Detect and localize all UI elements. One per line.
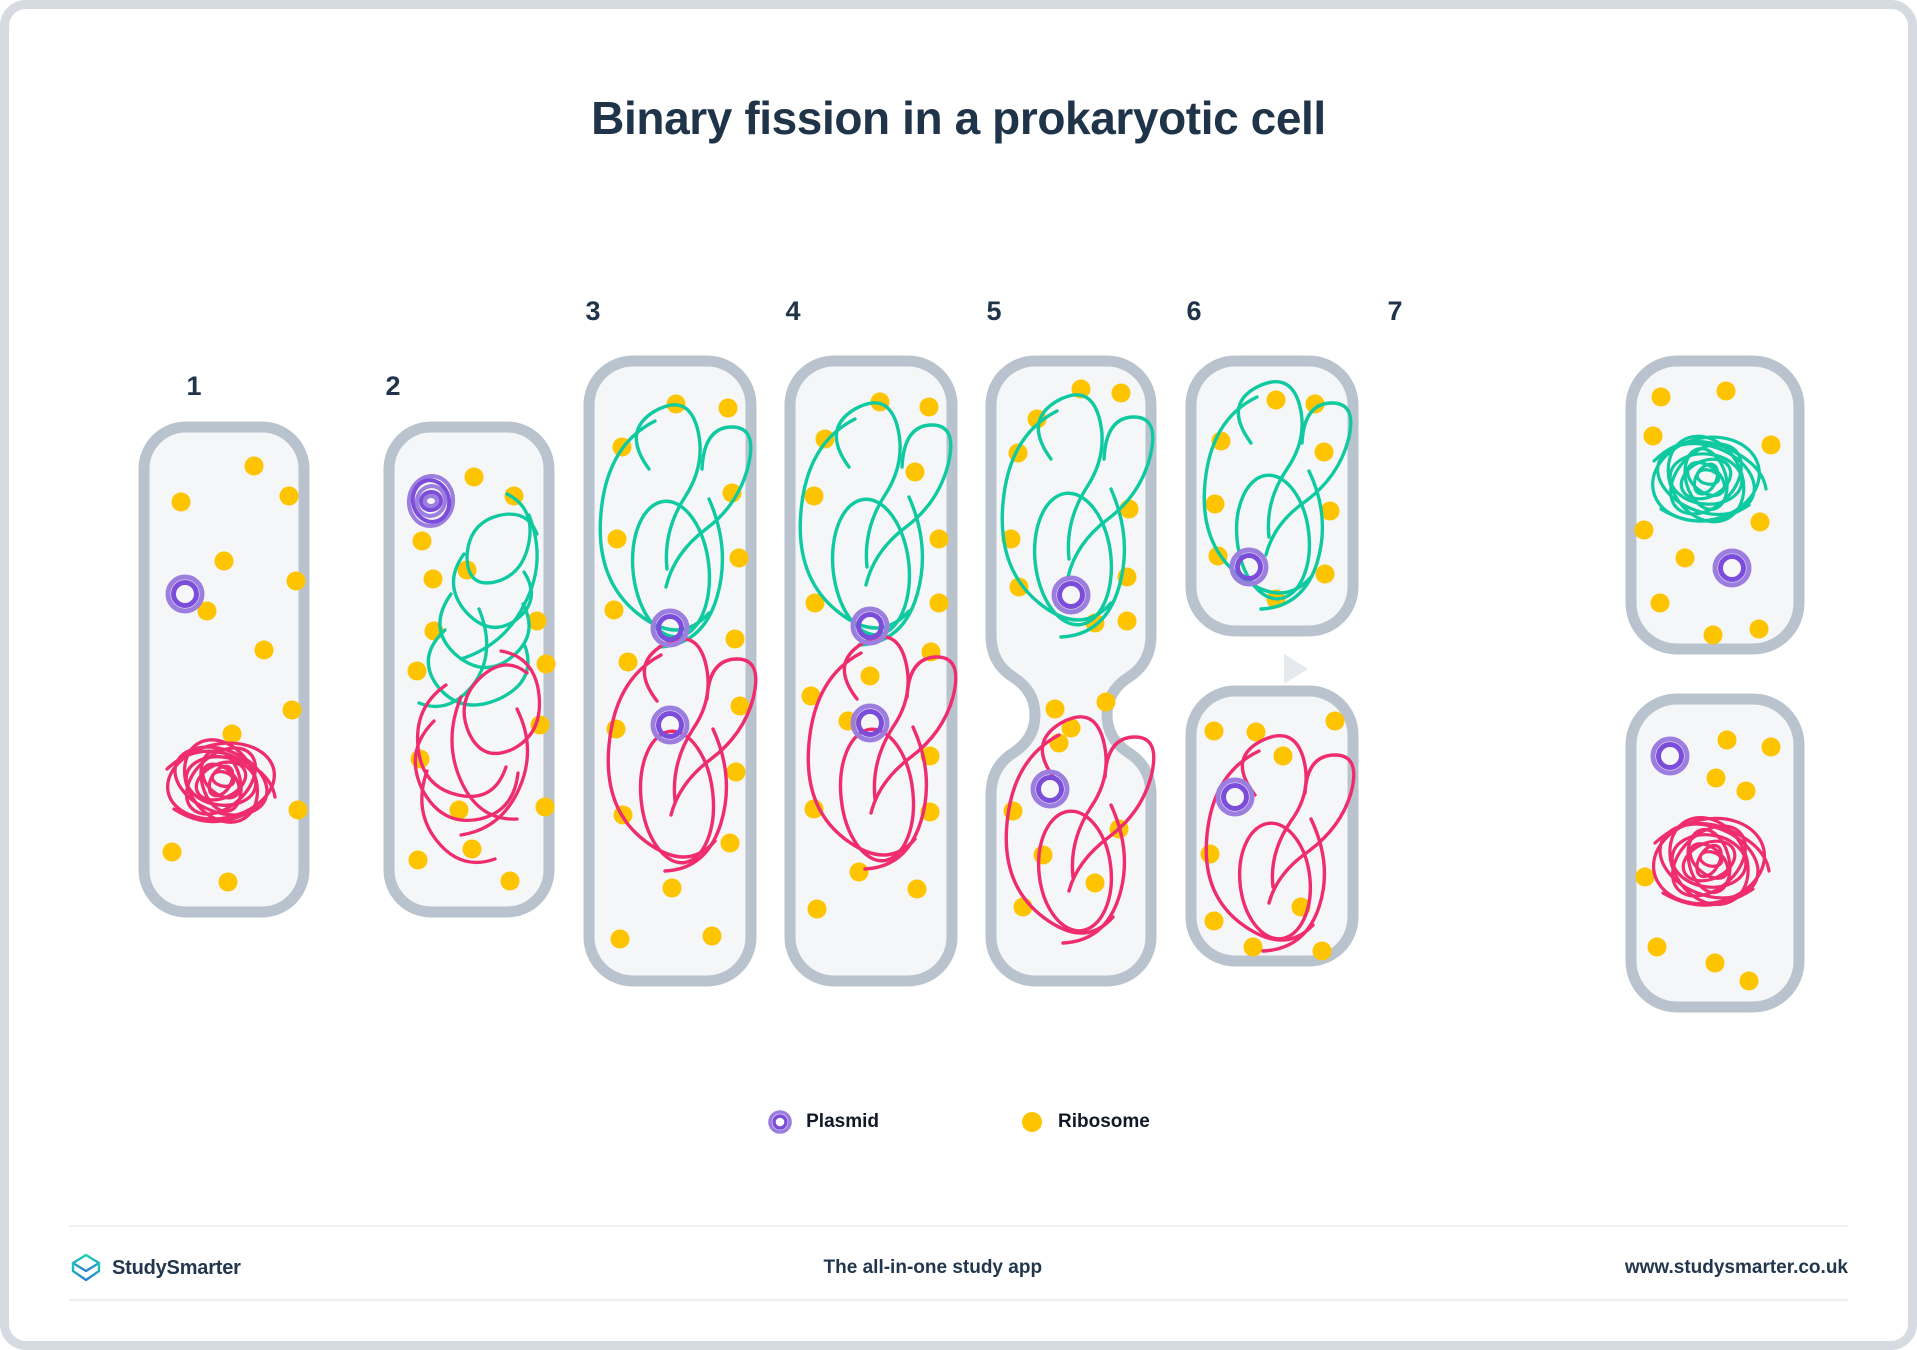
legend: Plasmid Ribosome — [9, 1109, 1908, 1135]
cell-stage-6 — [1191, 361, 1354, 961]
cell-stage-7 — [1631, 361, 1799, 1007]
arrow-6 — [1284, 654, 1308, 684]
step-number-5: 5 — [964, 296, 1024, 327]
cell-stage-2 — [389, 427, 556, 912]
studysmarter-cube-logo — [69, 1251, 103, 1285]
cell-stage-4 — [790, 361, 956, 981]
cell-wall — [144, 427, 304, 912]
legend-item-plasmid: Plasmid — [767, 1109, 879, 1135]
step-number-7: 7 — [1365, 296, 1425, 327]
step-number-6: 6 — [1164, 296, 1224, 327]
step-number-2: 2 — [363, 371, 423, 402]
step-number-3: 3 — [563, 296, 623, 327]
footer-tagline: The all-in-one study app — [824, 1257, 1043, 1279]
binary-fission-illustration — [9, 9, 1917, 1350]
footer-divider-bottom — [69, 1299, 1848, 1301]
cell-stage-5 — [991, 361, 1154, 981]
step-number-4: 4 — [763, 296, 823, 327]
legend-label-plasmid: Plasmid — [806, 1111, 879, 1133]
footer-divider-top — [69, 1225, 1848, 1227]
legend-item-ribosome: Ribosome — [1019, 1109, 1150, 1135]
footer: StudySmarter The all-in-one study app ww… — [69, 1237, 1848, 1299]
cell-stage-3 — [589, 361, 756, 981]
step-number-1: 1 — [164, 371, 224, 402]
footer-url[interactable]: www.studysmarter.co.uk — [1625, 1257, 1848, 1279]
legend-label-ribosome: Ribosome — [1058, 1111, 1150, 1133]
brand-logo[interactable]: StudySmarter — [69, 1251, 241, 1285]
brand-name: StudySmarter — [112, 1257, 241, 1280]
ribosome-dot-icon — [1019, 1109, 1045, 1135]
plasmid-ring-icon — [767, 1109, 793, 1135]
cell-stage-1 — [144, 427, 308, 912]
diagram-canvas: Binary fission in a prokaryotic cell — [0, 0, 1917, 1350]
